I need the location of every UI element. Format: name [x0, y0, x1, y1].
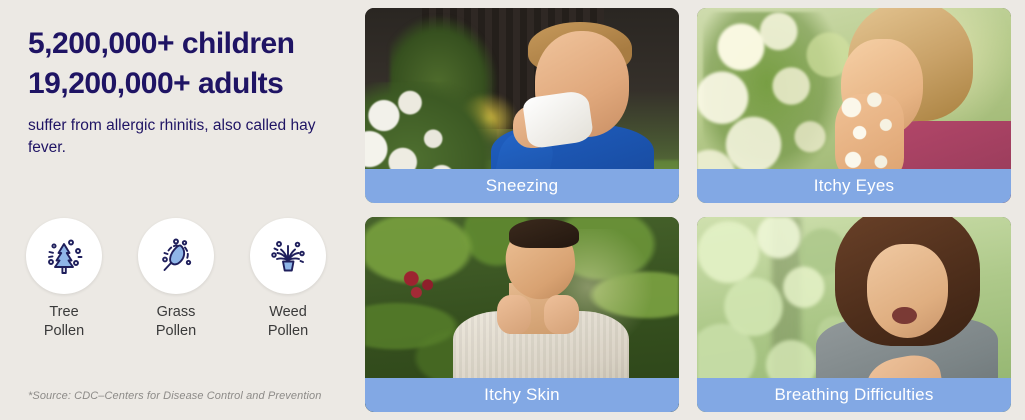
stats-panel: 5,200,000+ children 19,200,000+ adults s…: [0, 0, 345, 420]
caption-itchy-skin: Itchy Skin: [365, 378, 679, 412]
pollen-item-tree: Tree Pollen: [22, 218, 106, 341]
allergy-infographic: 5,200,000+ children 19,200,000+ adults s…: [0, 0, 1025, 420]
caption-sneezing: Sneezing: [365, 169, 679, 203]
symptom-card-breathing-difficulties[interactable]: Breathing Difficulties: [697, 217, 1011, 412]
symptom-card-itchy-skin[interactable]: Itchy Skin: [365, 217, 679, 412]
photo-detail-hair: [509, 219, 578, 248]
weed-pollen-icon: [250, 218, 326, 294]
pollen-types-row: Tree Pollen: [22, 218, 330, 341]
photo-detail-left-hand: [497, 295, 532, 334]
photo-detail-berries: [396, 268, 446, 303]
pollen-label-grass: Grass Pollen: [156, 303, 196, 341]
tree-pollen-icon: [26, 218, 102, 294]
pollen-label-tree: Tree Pollen: [44, 303, 84, 341]
caption-breathing-difficulties: Breathing Difficulties: [697, 378, 1011, 412]
symptom-photo-grid: Sneezing Itchy Eyes: [345, 0, 1025, 420]
source-footnote: *Source: CDC–Centers for Disease Control…: [28, 390, 321, 402]
photo-detail-face: [867, 244, 949, 338]
photo-detail-tissue: [522, 89, 594, 148]
photo-detail-right-hand: [544, 295, 579, 334]
symptom-card-sneezing[interactable]: Sneezing: [365, 8, 679, 203]
pollen-item-weed: Weed Pollen: [246, 218, 330, 341]
subheadline-text: suffer from allergic rhinitis, also call…: [28, 115, 318, 159]
headline-line-children: 5,200,000+ children: [28, 24, 345, 64]
headline-line-adults: 19,200,000+ adults: [28, 64, 345, 104]
grass-pollen-icon: [138, 218, 214, 294]
pollen-item-grass: Grass Pollen: [134, 218, 218, 341]
caption-itchy-eyes: Itchy Eyes: [697, 169, 1011, 203]
symptom-card-itchy-eyes[interactable]: Itchy Eyes: [697, 8, 1011, 203]
pollen-label-weed: Weed Pollen: [268, 303, 308, 341]
photo-detail-open-mouth: [892, 307, 917, 325]
headline: 5,200,000+ children 19,200,000+ adults: [28, 24, 345, 103]
